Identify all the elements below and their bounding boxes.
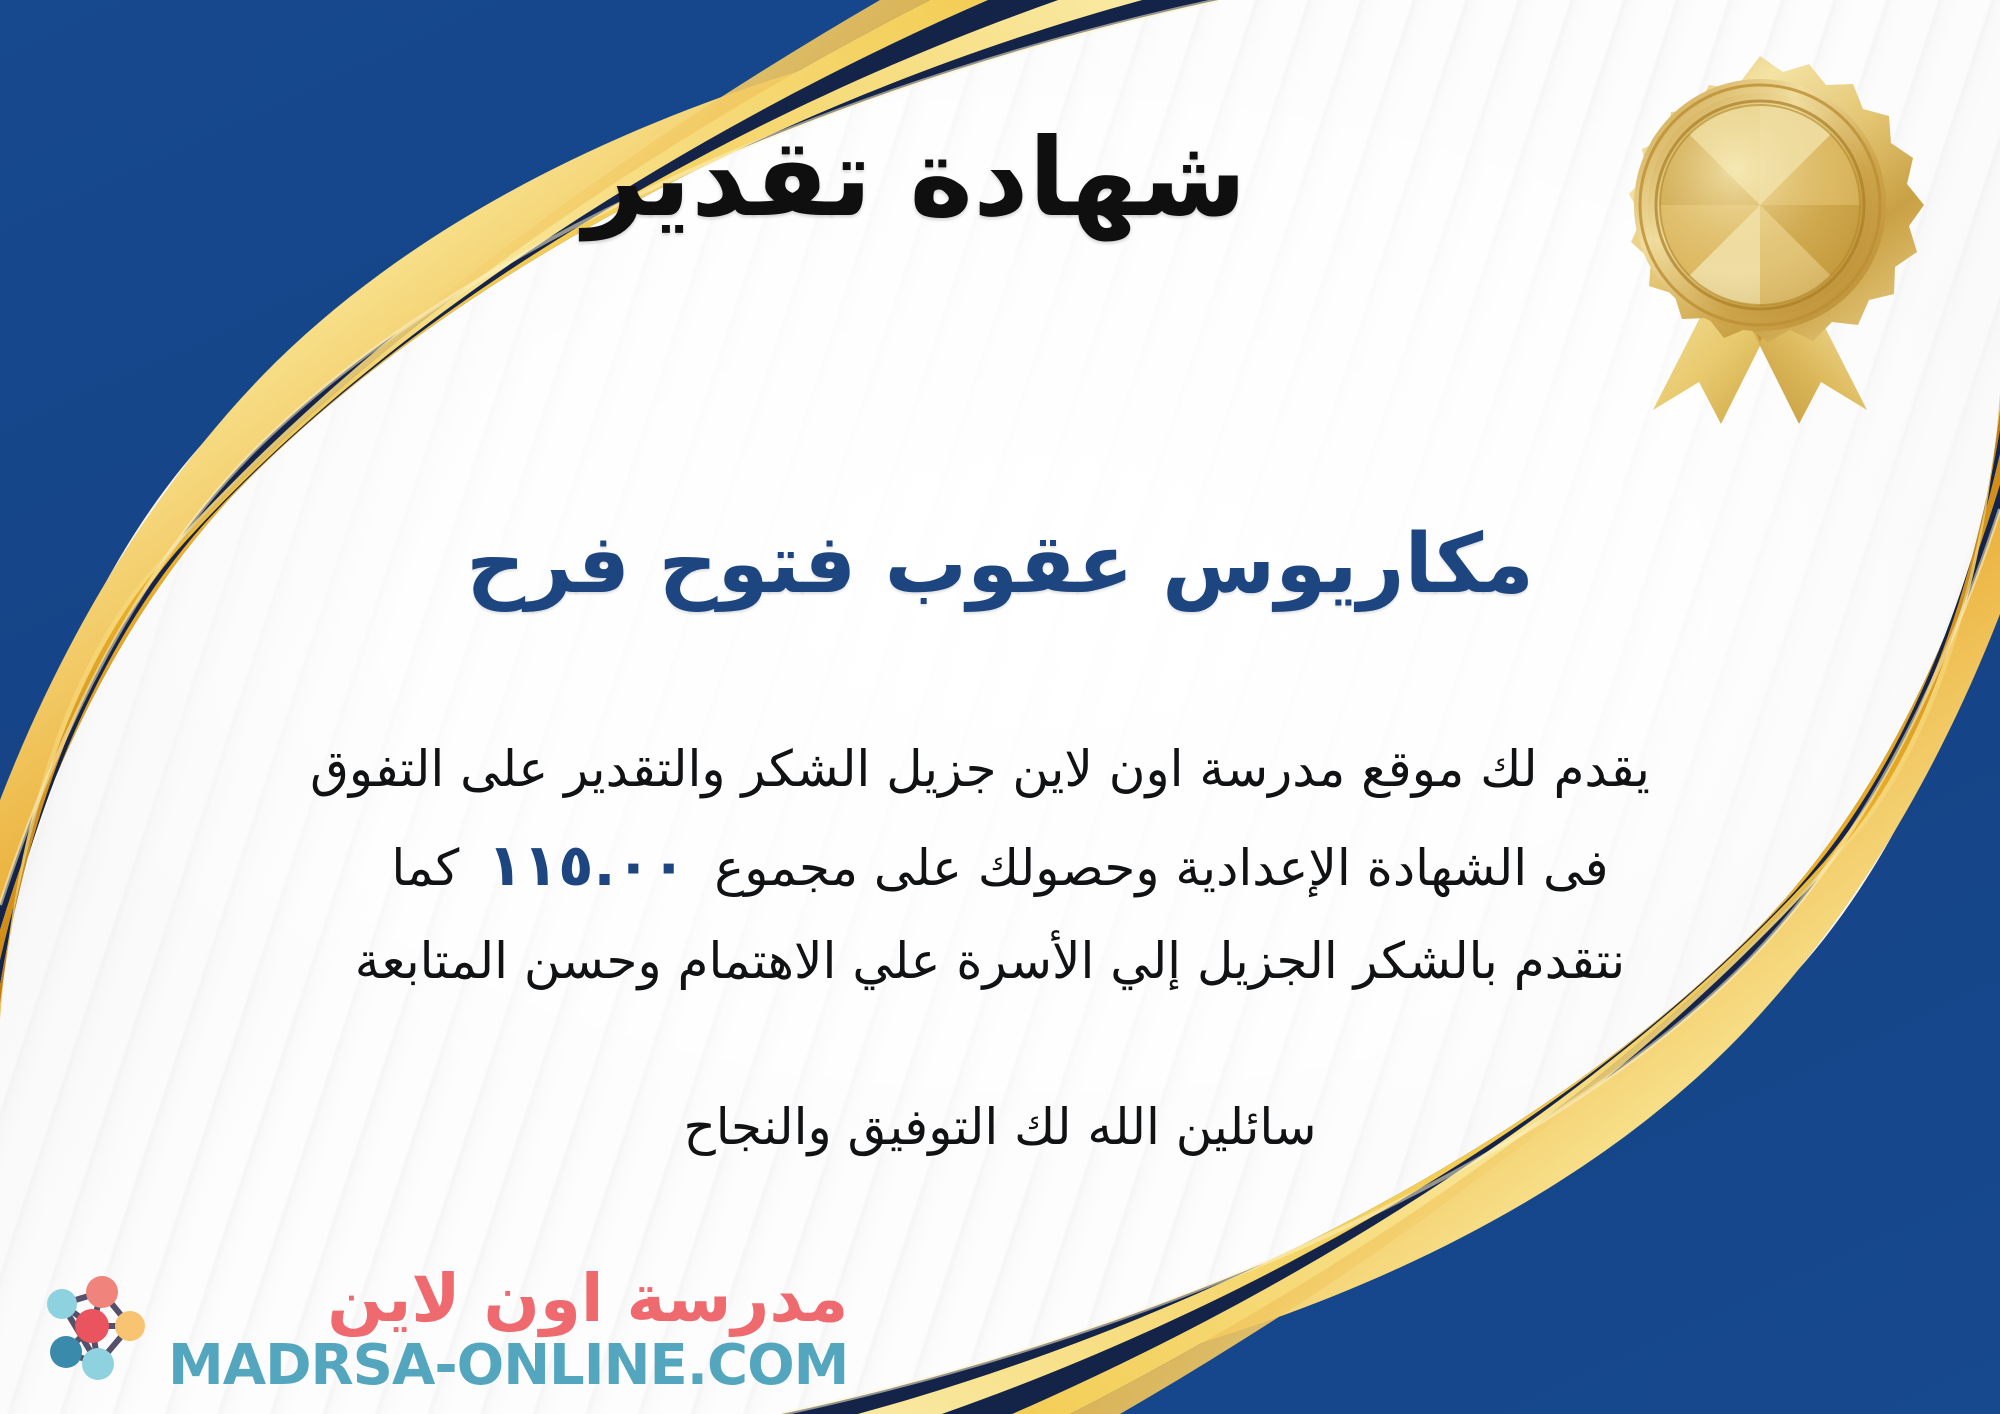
certificate-content: شهادة تقدير مكاريوس عقوب فتوح فرح يقدم ل…: [0, 0, 2000, 1414]
node-top: [86, 1276, 118, 1308]
node-right: [115, 1311, 145, 1341]
certificate-body: يقدم لك موقع مدرسة اون لاين جزيل الشكر و…: [90, 725, 1910, 1006]
brand-text-block: مدرسة اون لاين MADRSA-ONLINE.COM: [168, 1266, 848, 1394]
node-center: [75, 1309, 109, 1343]
body-line-1: يقدم لك موقع مدرسة اون لاين جزيل الشكر و…: [90, 725, 1910, 814]
brand-logo[interactable]: مدرسة اون لاين MADRSA-ONLINE.COM: [26, 1264, 848, 1396]
network-graph-icon: [26, 1264, 158, 1396]
body-line-3: نتقدم بالشكر الجزيل إلي الأسرة علي الاهت…: [90, 917, 1910, 1006]
total-score-value: ١١٥.٠٠: [487, 831, 686, 899]
closing-line: سائلين الله لك التوفيق والنجاح: [0, 1098, 2000, 1156]
body-line-2: فى الشهادة الإعدادية وحصولك على مجموع١١٥…: [90, 814, 1910, 917]
brand-arabic-name: مدرسة اون لاين: [327, 1266, 848, 1332]
brand-website-url[interactable]: MADRSA-ONLINE.COM: [168, 1338, 848, 1394]
certificate-canvas: شهادة تقدير مكاريوس عقوب فتوح فرح يقدم ل…: [0, 0, 2000, 1414]
recipient-name: مكاريوس عقوب فتوح فرح: [0, 518, 2000, 612]
node-lower-left: [50, 1336, 82, 1368]
certificate-title: شهادة تقدير: [0, 120, 2000, 239]
node-upper-left: [47, 1289, 77, 1319]
node-bottom: [82, 1348, 114, 1380]
body-line-2-tail: كما: [391, 839, 459, 897]
body-line-2-lead: فى الشهادة الإعدادية وحصولك على مجموع: [714, 839, 1608, 897]
